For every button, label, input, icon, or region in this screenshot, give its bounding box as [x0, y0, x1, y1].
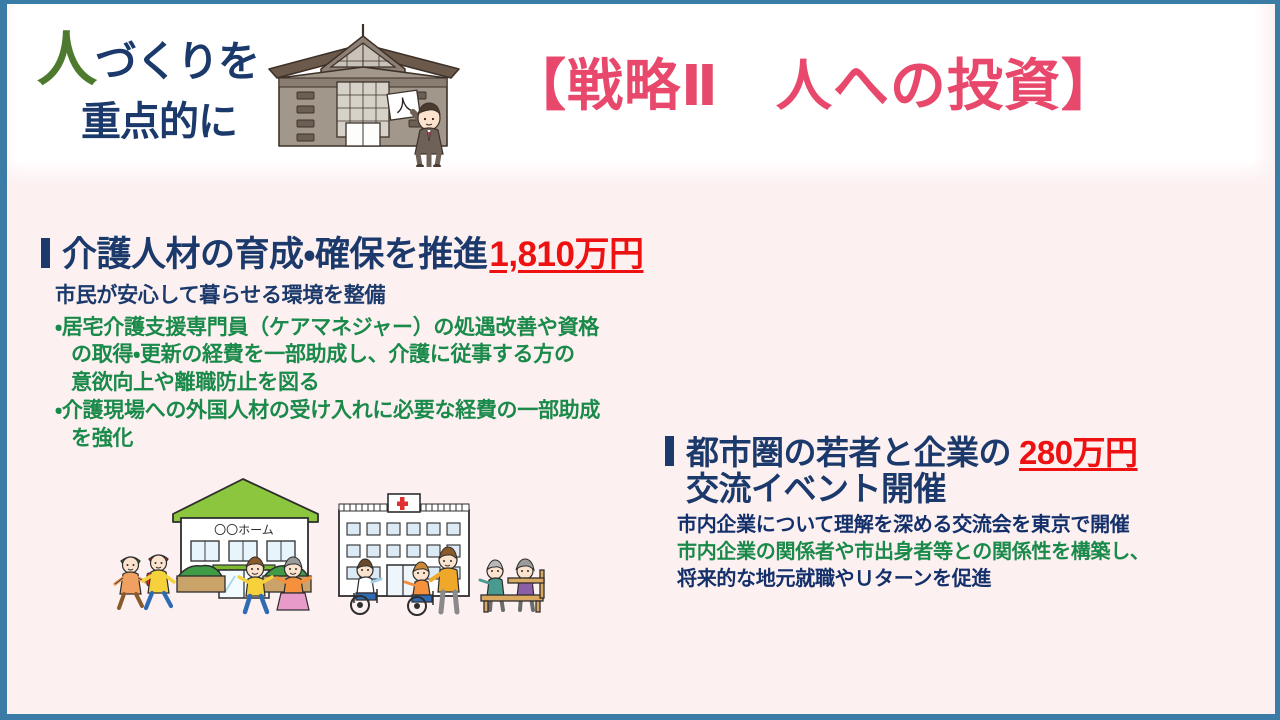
care-amount-badge: 1,810万円 — [489, 237, 643, 273]
section-exchange-event: 都市圏の若者と企業の 280万円 交流イベント開催 市内企業について理解を深める… — [665, 434, 1265, 593]
logo-zukuri-text: づくりを — [95, 38, 259, 85]
logo-line-2: 重点的に — [81, 102, 237, 142]
exchange-heading-line-1: 都市圏の若者と企業の — [686, 436, 1011, 470]
exchange-detail-line-1: 市内企業について理解を深める交流会を東京で開催 — [677, 512, 1265, 539]
header-banner: 人づくりを 重点的に — [15, 6, 1255, 162]
exchange-detail-line-3: 将来的な地元就職やＵターンを促進 — [677, 566, 1265, 593]
care-bullet-list: ・居宅介護支援専門員（ケアマネジャー）の処遇改善や資格 の取得・更新の経費を一部… — [55, 314, 831, 453]
section-care-workforce: 介護人材の育成・確保を推進 1,810万円 市民が安心して暮らせる環境を整備 ・… — [41, 236, 831, 452]
elderly-on-bench-figures — [480, 559, 544, 612]
care-bullet-1-line-3: 意欲向上や離職防止を図る — [55, 369, 831, 397]
exchange-heading-line-2: 交流イベント開催 — [686, 472, 1265, 507]
exchange-detail-line-2: 市内企業の関係者や市出身者等との関係性を構築し、 — [677, 539, 1265, 566]
svg-text:〇〇ホーム: 〇〇ホーム — [214, 523, 274, 537]
bullet-bar-icon — [665, 436, 674, 466]
care-bullet-1-line-1: ・居宅介護支援専門員（ケアマネジャー）の処遇改善や資格 — [55, 316, 599, 339]
logo-line-1: 人づくりを — [37, 30, 259, 90]
care-bullet-2-line-1: ・介護現場への外国人材の受け入れに必要な経費の一部助成 — [55, 399, 600, 422]
logo-hito-character: 人 — [37, 26, 95, 93]
care-scene-illustration: 〇〇ホーム — [103, 466, 563, 616]
bullet-bar-icon — [41, 238, 50, 268]
exchange-detail-list: 市内企業について理解を深める交流会を東京で開催 市内企業の関係者や市出身者等との… — [677, 512, 1265, 592]
slide-title: 【戦略Ⅱ 人への投資】 — [510, 58, 1118, 114]
slide-logo: 人づくりを 重点的に — [37, 24, 277, 154]
exchange-amount-badge: 280万円 — [1019, 436, 1138, 470]
care-bullet-1-line-2: の取得・更新の経費を一部助成し、介護に従事する方の — [55, 341, 831, 369]
exchange-heading-row: 都市圏の若者と企業の 280万円 — [665, 434, 1265, 470]
city-hall-illustration: 人 — [263, 22, 468, 167]
care-bullet-item-1: ・居宅介護支援専門員（ケアマネジャー）の処遇改善や資格 の取得・更新の経費を一部… — [55, 314, 831, 397]
slide-canvas: 人づくりを 重点的に — [0, 0, 1280, 720]
care-heading-row: 介護人材の育成・確保を推進 1,810万円 — [41, 236, 831, 273]
children-figures — [115, 555, 174, 608]
care-subtitle: 市民が安心して暮らせる環境を整備 — [55, 279, 831, 309]
care-heading-text: 介護人材の育成・確保を推進 — [62, 237, 487, 273]
